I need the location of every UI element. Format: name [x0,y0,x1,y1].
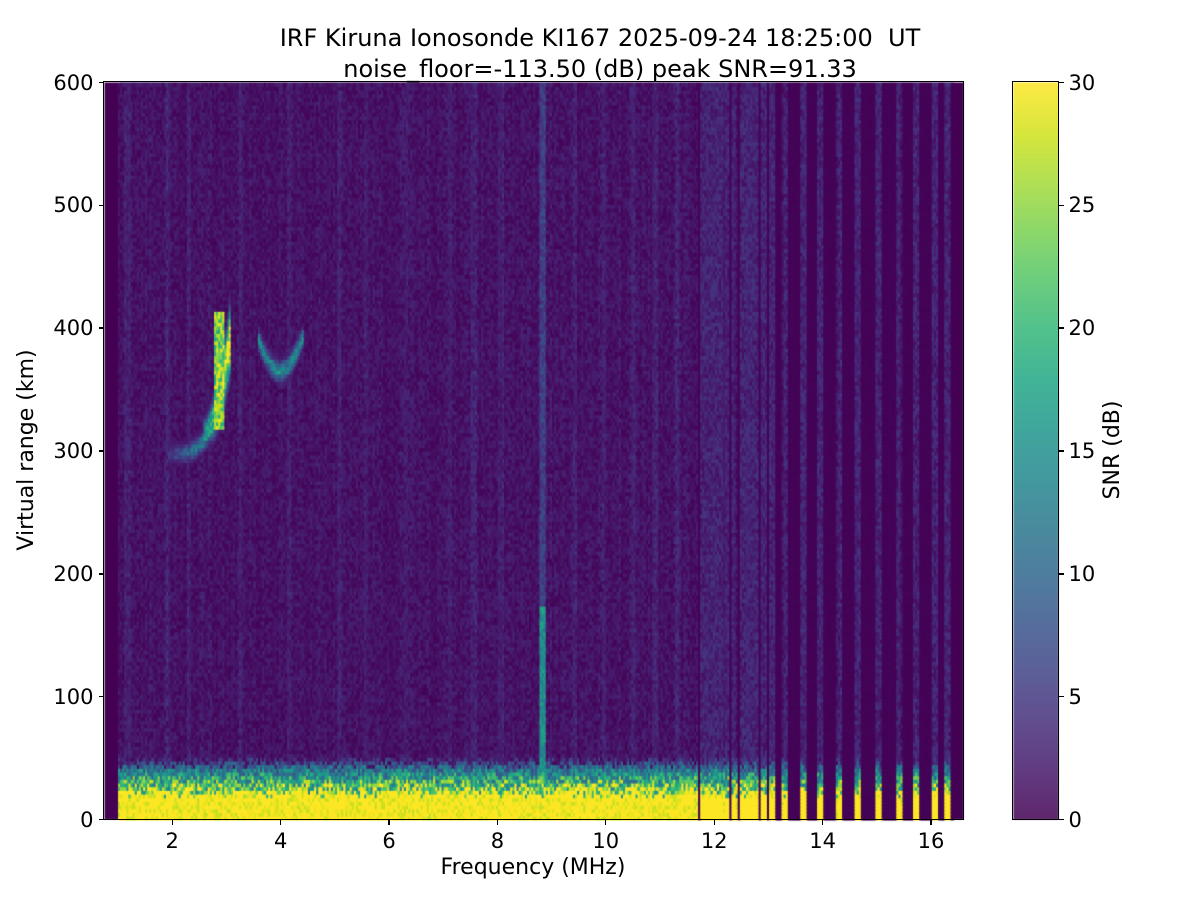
y-axis-tick-mark [99,450,104,451]
y-axis-tick-label: 0 [80,808,93,832]
y-axis-tick-mark [99,696,104,697]
colorbar-tick-mark [1059,819,1064,820]
x-axis-tick-label: 2 [166,829,179,853]
y-axis-tick-mark [99,205,104,206]
y-axis-label-text: Virtual range (km) [14,349,39,550]
colorbar-tick-label: 10 [1069,562,1096,586]
x-axis-tick-label: 12 [701,829,728,853]
colorbar-tick-mark [1059,573,1064,574]
colorbar-tick-mark [1059,450,1064,451]
y-axis-tick-label: 200 [53,562,93,586]
plot-area-frame [103,81,964,820]
colorbar-tick-mark [1059,82,1064,83]
x-axis-label: Frequency (MHz) [441,855,626,880]
y-axis-tick-mark [99,819,104,820]
y-axis-tick-mark [99,573,104,574]
x-axis-tick-label: 8 [491,829,504,853]
y-axis-tick-mark [99,82,104,83]
y-axis-tick-mark [99,327,104,328]
colorbar-tick-label: 5 [1069,685,1082,709]
x-axis-tick-label: 10 [592,829,619,853]
y-axis-tick-label: 100 [53,685,93,709]
x-axis-tick-mark [280,820,281,825]
colorbar-tick-label: 0 [1069,808,1082,832]
colorbar-tick-label: 30 [1069,71,1096,95]
x-axis-tick-label: 16 [918,829,945,853]
x-axis-tick-mark [172,820,173,825]
colorbar-tick-label: 25 [1069,193,1096,217]
x-axis-tick-mark [497,820,498,825]
y-axis-tick-label: 600 [53,71,93,95]
x-axis-tick-mark [930,820,931,825]
y-axis-tick-label: 300 [53,439,93,463]
y-axis-tick-label: 500 [53,193,93,217]
x-axis-tick-mark [714,820,715,825]
colorbar-tick-label: 20 [1069,316,1096,340]
x-axis-tick-label: 14 [809,829,836,853]
x-axis-tick-label: 4 [274,829,287,853]
x-axis-tick-mark [822,820,823,825]
colorbar-label: SNR (dB) [1100,450,1199,475]
x-axis-tick-mark [605,820,606,825]
colorbar-frame [1012,81,1059,820]
x-axis-tick-mark [388,820,389,825]
colorbar-tick-mark [1059,205,1064,206]
figure-title-line-2: noise_floor=-113.50 (dB) peak SNR=91.33 [343,55,857,83]
figure-title-line-1: IRF Kiruna Ionosonde KI167 2025-09-24 18… [280,24,921,52]
colorbar-tick-mark [1059,696,1064,697]
y-axis-tick-label: 400 [53,316,93,340]
colorbar-tick-label: 15 [1069,439,1096,463]
x-axis-tick-label: 6 [382,829,395,853]
colorbar-tick-mark [1059,327,1064,328]
colorbar-label-text: SNR (dB) [1100,401,1125,500]
